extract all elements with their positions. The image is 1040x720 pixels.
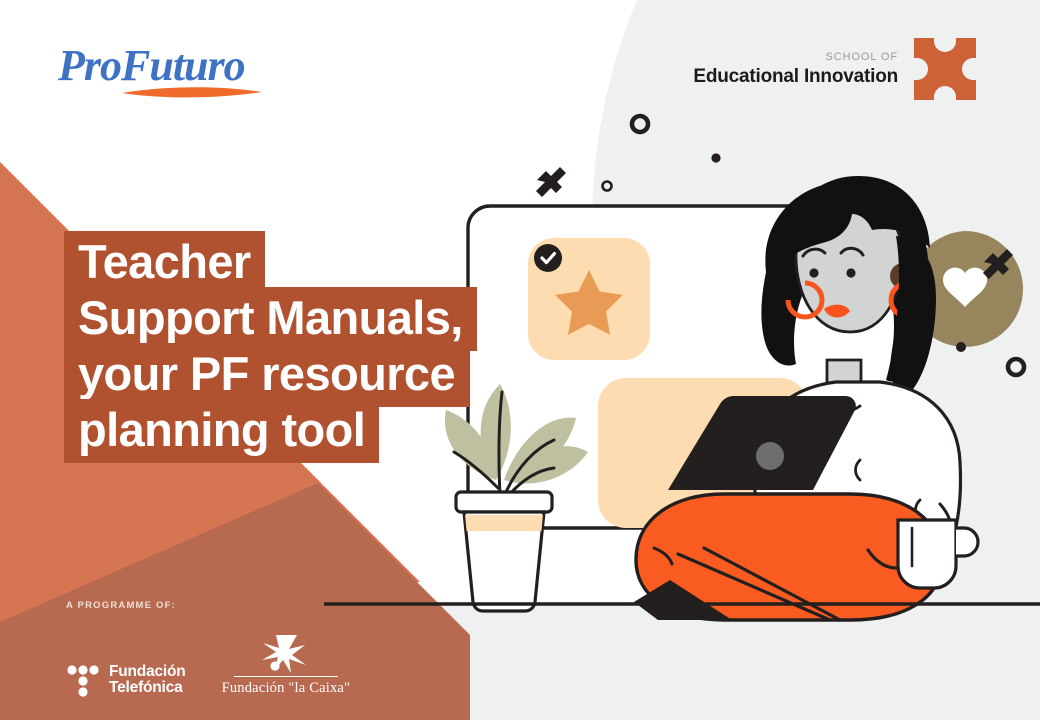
caixa-rule [234, 676, 338, 677]
laptop-logo-icon [756, 442, 784, 470]
programme-of-block: A PROGRAMME OF: Fundación Telefónica [66, 600, 350, 697]
small-ring-doodle-icon [603, 182, 612, 191]
fundacion-la-caixa-logo[interactable]: Fundación "la Caixa" [222, 633, 351, 697]
headline-line-3: your PF resource [64, 343, 469, 407]
programme-of-label: A PROGRAMME OF: [66, 600, 350, 611]
headline-line-2: Support Manuals, [64, 287, 477, 351]
sei-eyebrow: SCHOOL OF [826, 52, 898, 63]
fundacion-telefonica-wordmark: Fundación Telefónica [109, 664, 186, 697]
ring-doodle-icon [1008, 359, 1024, 375]
headline-line-1: Teacher [64, 231, 265, 295]
ring-doodle-icon [632, 116, 648, 132]
cross-doodle-icon [536, 167, 566, 197]
fundacion-telefonica-logo[interactable]: Fundación Telefónica [66, 663, 186, 697]
profuturo-logo[interactable]: ProFuturo [56, 36, 296, 106]
dot-doodle-icon [711, 153, 720, 162]
caixa-wordmark: Fundación "la Caixa" [222, 680, 351, 697]
programme-logos-row: Fundación Telefónica Fundación "la Caixa… [66, 633, 350, 697]
doodle-group-left [536, 116, 721, 197]
slide-canvas: ProFuturo SCHOOL OF Educational Innovati… [0, 0, 1040, 720]
ft-line-1: Fundación [109, 664, 186, 680]
school-of-educational-innovation-logo[interactable]: SCHOOL OF Educational Innovation [693, 36, 978, 102]
sei-text-block: SCHOOL OF Educational Innovation [693, 52, 898, 86]
star-card [528, 238, 650, 360]
check-badge-icon [534, 244, 562, 272]
page-title: Teacher Support Manuals, your PF resourc… [64, 234, 534, 458]
ft-line-2: Telefónica [109, 680, 186, 696]
headline-line-4: planning tool [64, 399, 379, 463]
caixa-star-icon [257, 633, 315, 675]
coffee-mug [898, 520, 978, 588]
sei-title: Educational Innovation [693, 67, 898, 86]
x-mark-icon [912, 36, 978, 102]
telefonica-dots-icon [66, 663, 100, 697]
profuturo-wordmark: ProFuturo [57, 41, 245, 90]
eye-left [809, 268, 818, 277]
eye-right [846, 268, 855, 277]
dot-doodle-icon [956, 342, 966, 352]
